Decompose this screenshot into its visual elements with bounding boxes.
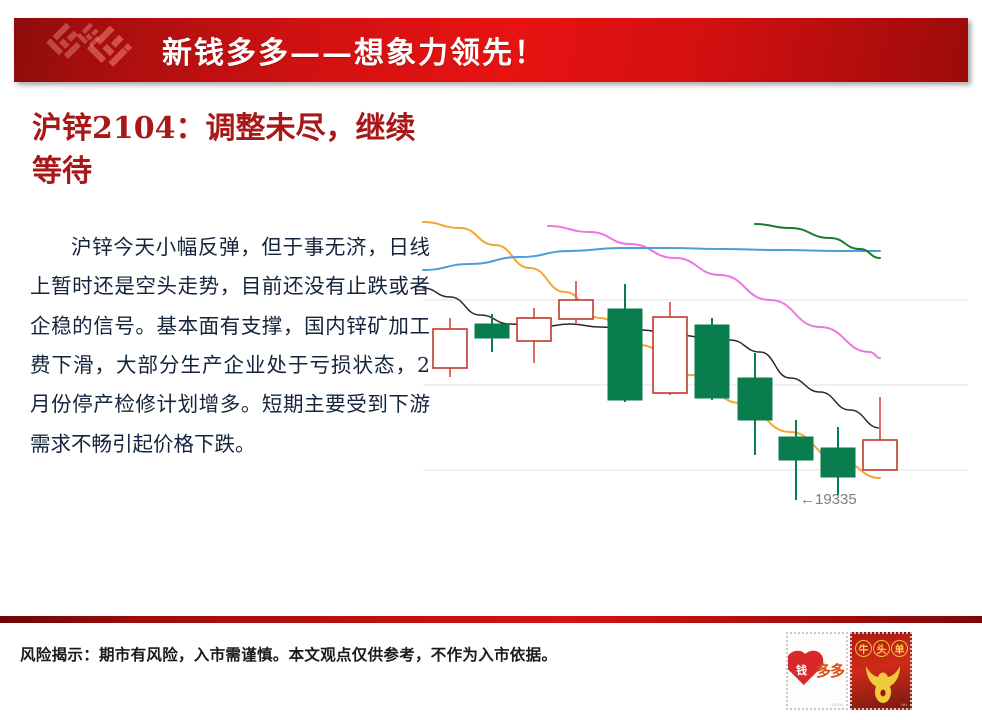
candle (475, 314, 509, 352)
candle-body (863, 440, 897, 470)
candle (653, 302, 687, 395)
header-banner: 新钱多多——想象力领先！ (14, 18, 968, 82)
stamp-char-2: 单 (891, 640, 908, 657)
price-chart: ←19335 (420, 180, 982, 530)
stamp-code-left: CH-05 (831, 702, 843, 707)
candle-body (517, 318, 551, 341)
candle-body (433, 329, 467, 368)
candlestick-chart-svg: ←19335 (420, 180, 982, 530)
candle (433, 318, 467, 377)
price-annotation-label: ←19335 (800, 491, 857, 508)
candle (821, 427, 855, 495)
candle-body (695, 325, 729, 398)
candle-body (475, 324, 509, 338)
candle-body (821, 448, 855, 477)
footer-divider (0, 616, 982, 623)
candle-body (653, 317, 687, 393)
ma-line-ma-black (423, 288, 880, 428)
niu-tou-dan-stamp: 牛 头 单 NH (850, 632, 912, 710)
chart-candles (433, 281, 897, 500)
candle (559, 281, 593, 323)
candle (738, 353, 772, 455)
bull-head-icon (864, 662, 902, 706)
diamond-lattice-logo-icon (32, 20, 150, 80)
candle (517, 308, 551, 363)
candle (695, 318, 729, 400)
candle (608, 284, 642, 402)
stamp-heart-char: 钱 (796, 665, 807, 676)
stamp-char-0: 牛 (855, 640, 872, 657)
qian-duo-duo-stamp: 钱 多多 CH-05 (786, 632, 848, 710)
footer-stamps: 钱 多多 CH-05 牛 头 单 NH (786, 632, 914, 710)
candle-body (559, 300, 593, 319)
header-title: 新钱多多——想象力领先！ (162, 28, 546, 72)
candle-body (779, 437, 813, 460)
page-title: 沪锌2104：调整未尽，继续等待 (32, 108, 432, 193)
candle (863, 397, 897, 470)
ma-line-ma-dark-green (755, 224, 880, 258)
stamp-code-right: NH (901, 702, 907, 707)
slide-root: 新钱多多——想象力领先！ 沪锌2104：调整未尽，继续等待 沪锌今天小幅反弹，但… (0, 0, 982, 720)
stamp-char-circles: 牛 头 单 (855, 640, 908, 657)
risk-disclaimer: 风险揭示：期市有风险，入市需谨慎。本文观点仅供参考，不作为入市依据。 (20, 643, 740, 665)
analysis-body-text: 沪锌今天小幅反弹，但于事无济，日线上暂时还是空头走势，目前还没有止跌或者企稳的信… (30, 228, 430, 464)
stamp-char-1: 头 (873, 640, 890, 657)
candle-body (738, 378, 772, 420)
stamp-brand-text: 多多 (816, 664, 844, 679)
candle-body (608, 309, 642, 400)
